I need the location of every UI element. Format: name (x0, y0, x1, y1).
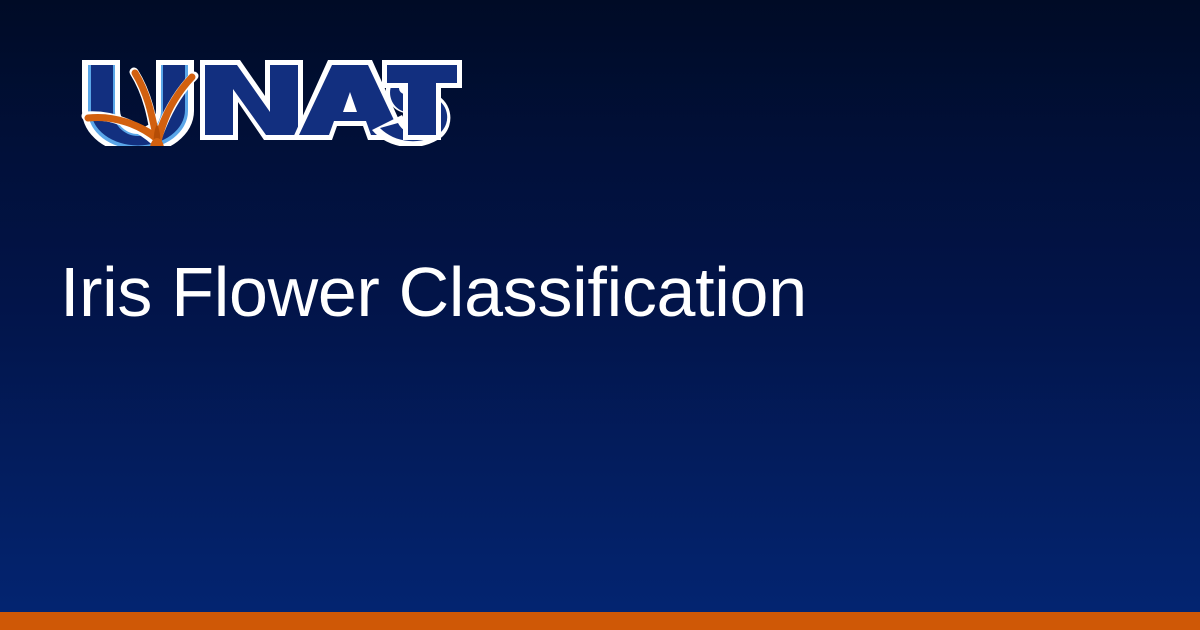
accent-bar (0, 612, 1200, 630)
unasat-logo-icon (60, 54, 462, 146)
page-title: Iris Flower Classification (60, 248, 1140, 336)
logo-letter-n (200, 60, 303, 140)
brand-logo[interactable] (60, 54, 462, 146)
share-card: Iris Flower Classification (0, 0, 1200, 630)
